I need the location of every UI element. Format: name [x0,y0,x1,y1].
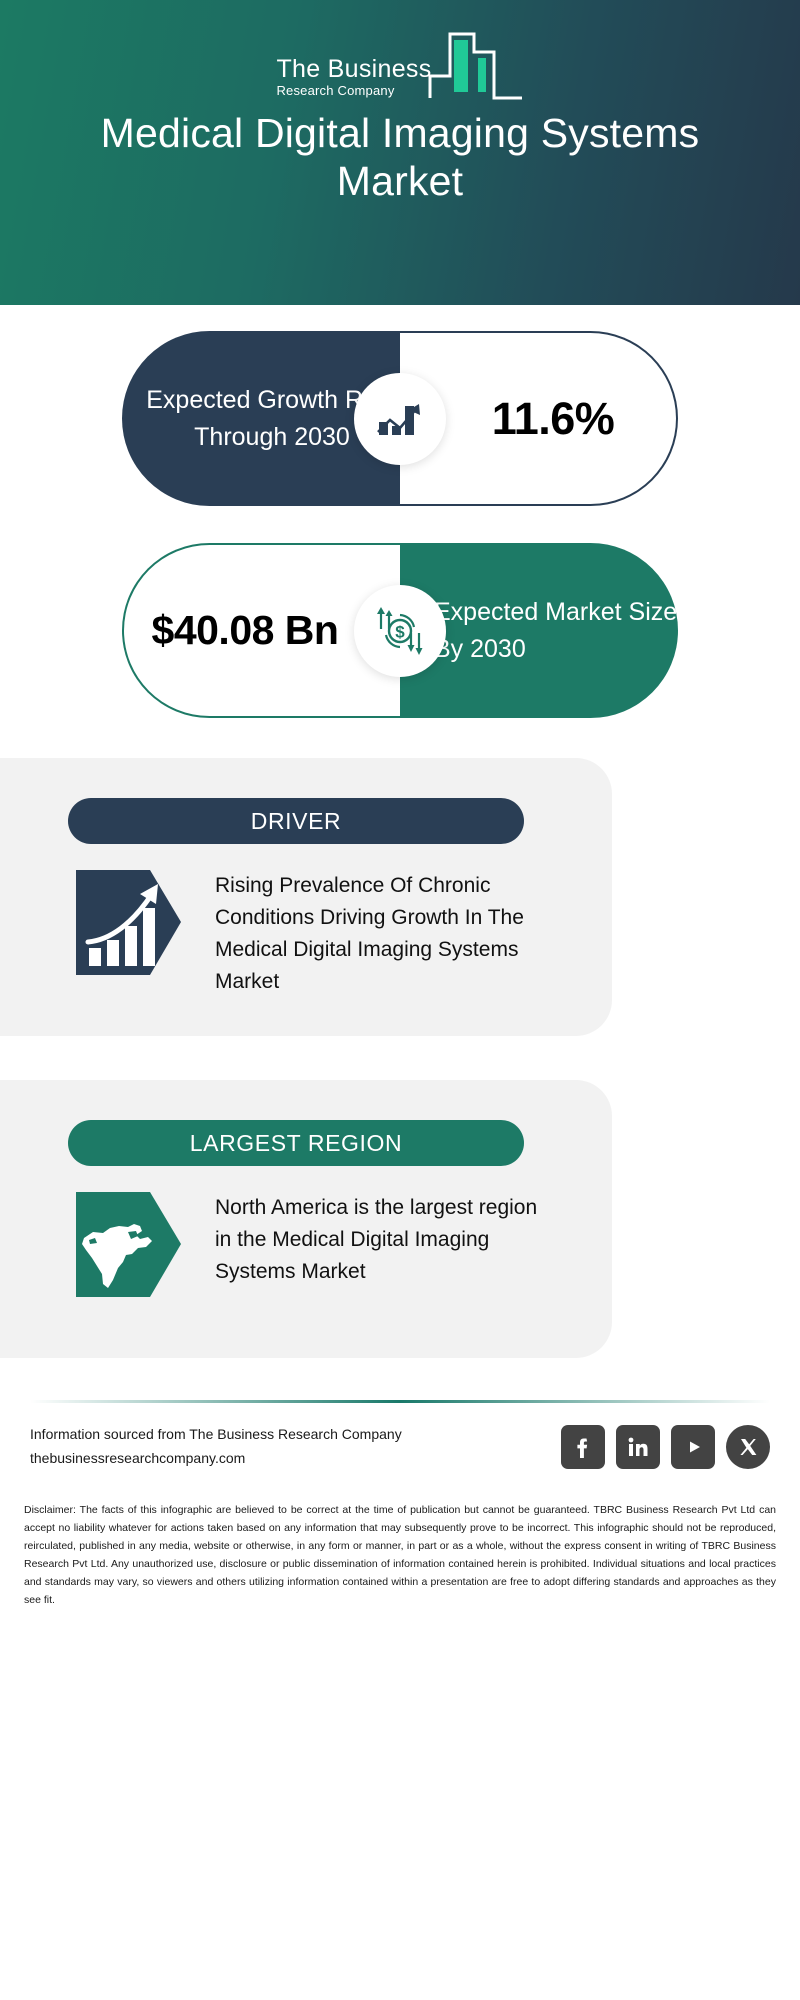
largest-region-body-text: North America is the largest region in t… [215,1192,545,1288]
x-twitter-icon[interactable] [726,1425,770,1469]
growth-rate-value: 11.6% [462,393,615,445]
social-links [561,1425,770,1469]
north-america-map-icon [76,1192,181,1297]
youtube-icon[interactable] [671,1425,715,1469]
page-title: Medical Digital Imaging Systems Market [0,110,800,206]
driver-heading-pill: DRIVER [68,798,524,844]
logo-secondary-text: Research Company [276,82,394,100]
stat-card-growth-rate: Expected Growth Rate Through 2030 11.6% [122,331,678,506]
disclaimer-text: Disclaimer: The facts of this infographi… [24,1501,776,1609]
footer-source-line-2[interactable]: thebusinessresearchcompany.com [30,1447,402,1471]
linkedin-icon[interactable] [616,1425,660,1469]
footer-source-line-1: Information sourced from The Business Re… [30,1423,402,1447]
company-logo: The Business Research Company [0,22,800,107]
largest-region-panel: LARGEST REGION North America is the larg… [0,1080,612,1358]
logo-primary-text: The Business [276,57,431,82]
logo-bar-chart-icon [428,22,524,107]
driver-body-text: Rising Prevalence Of Chronic Conditions … [215,870,545,998]
dollar-circular-arrows-icon: $ [354,585,446,677]
bar-chart-growth-icon [354,373,446,465]
market-size-value: $40.08 Bn [152,604,373,656]
footer-source-row: Information sourced from The Business Re… [30,1403,770,1471]
largest-region-heading: LARGEST REGION [190,1130,402,1157]
driver-panel: DRIVER Rising Prevalence Of Chronic Cond… [0,758,612,1036]
header-banner: The Business Research Company Medical Di… [0,0,800,305]
driver-heading: DRIVER [251,808,342,835]
facebook-icon[interactable] [561,1425,605,1469]
svg-text:$: $ [395,622,405,641]
stat-card-market-size: $40.08 Bn Expected Market Size By 2030 $ [122,543,678,718]
bar-chart-arrow-icon [76,870,181,975]
largest-region-heading-pill: LARGEST REGION [68,1120,524,1166]
